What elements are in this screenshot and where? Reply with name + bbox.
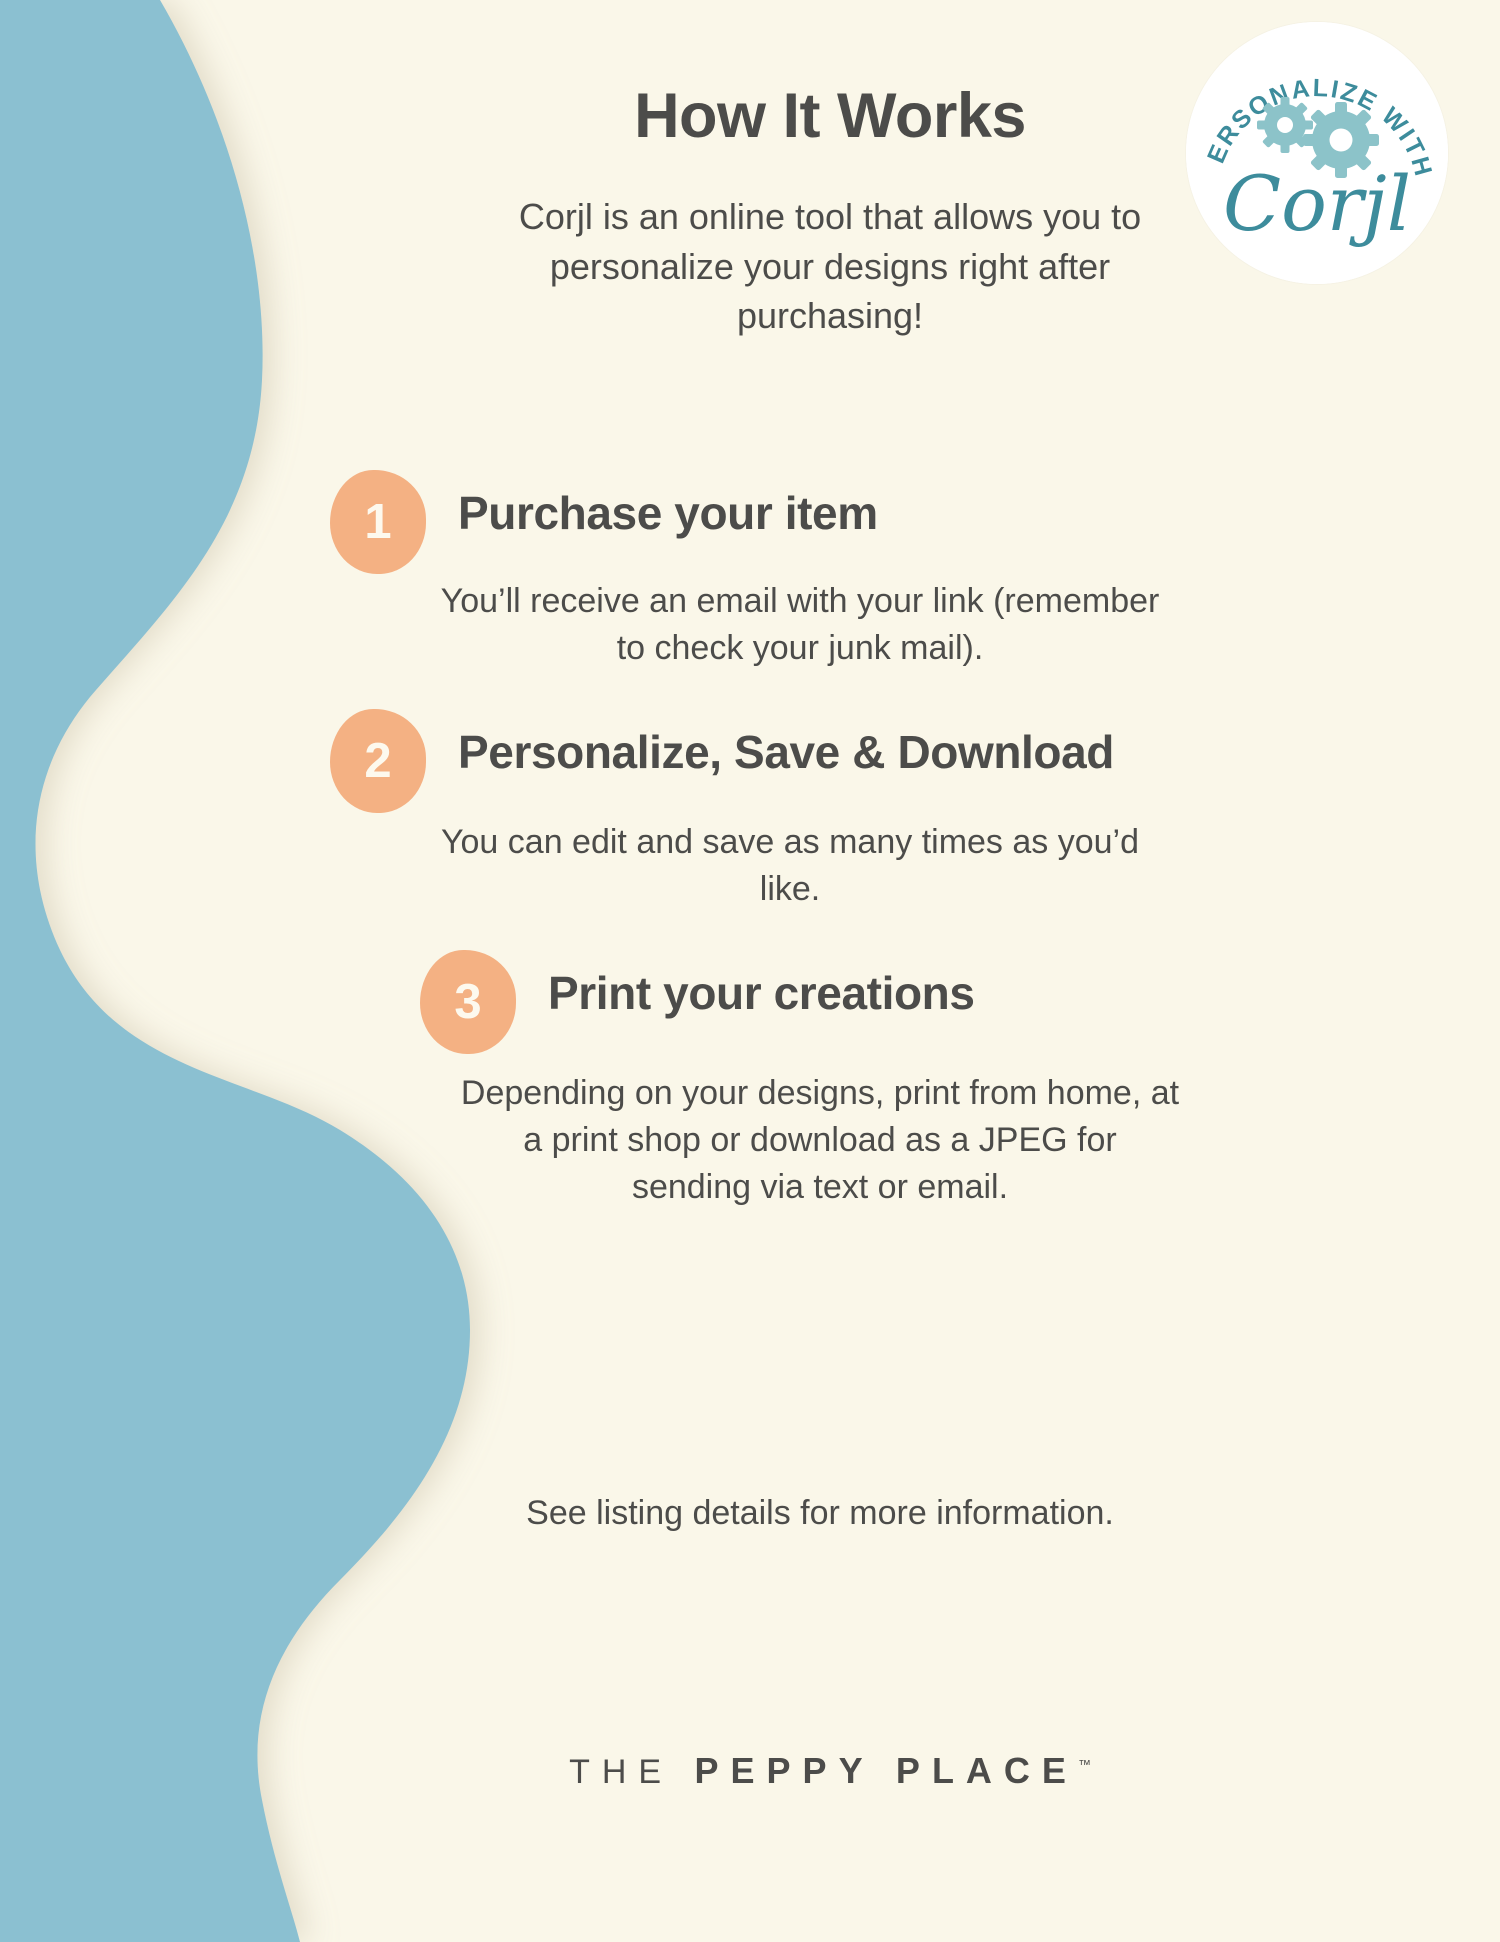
content-column: How It Works Corjl is an online tool tha… [330, 0, 1330, 1942]
step-3-header: 3 Print your creations [330, 948, 1330, 1058]
step-1-title: Purchase your item [458, 486, 878, 540]
step-2-number-badge: 2 [330, 709, 426, 813]
step-item-2: 2 Personalize, Save & Download You can e… [330, 707, 1330, 817]
step-2-body: You can edit and save as many times as y… [430, 819, 1150, 913]
trademark-symbol: ™ [1078, 1757, 1091, 1772]
page-title: How It Works [330, 80, 1330, 152]
brand-word-peppy-place: PEPPY PLACE [695, 1750, 1078, 1791]
step-1-header: 1 Purchase your item [330, 468, 1330, 578]
how-it-works-page: PERSONALIZE WITH [0, 0, 1500, 1942]
step-item-1: 1 Purchase your item You’ll receive an e… [330, 468, 1330, 578]
step-1-number-badge: 1 [330, 470, 426, 574]
intro-paragraph: Corjl is an online tool that allows you … [500, 192, 1160, 341]
step-item-3: 3 Print your creations Depending on your… [330, 948, 1330, 1058]
listing-details-note: See listing details for more information… [460, 1490, 1180, 1537]
brand-word-the: THE [569, 1753, 673, 1791]
step-3-body: Depending on your designs, print from ho… [460, 1070, 1180, 1211]
footer-brand-wordmark: THE PEPPY PLACE™ [330, 1750, 1330, 1792]
step-2-header: 2 Personalize, Save & Download [330, 707, 1330, 817]
step-1-body: You’ll receive an email with your link (… [440, 578, 1160, 672]
step-2-title: Personalize, Save & Download [458, 725, 1114, 779]
step-3-title: Print your creations [548, 966, 975, 1020]
step-3-number-badge: 3 [420, 950, 516, 1054]
